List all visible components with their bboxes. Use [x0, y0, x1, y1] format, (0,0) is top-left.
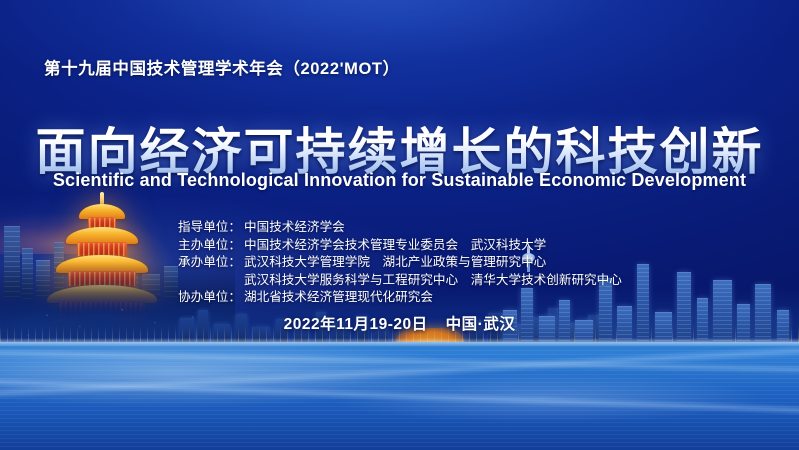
organizer-row: 指导单位：中国技术经济学会 — [178, 219, 622, 237]
banner-subtitle-english: Scientific and Technological Innovation … — [0, 170, 799, 191]
organizer-value: 武汉科技大学服务科学与工程研究中心 清华大学技术创新研究中心 — [178, 272, 622, 290]
date-location-line: 2022年11月19-20日中国·武汉 — [0, 312, 799, 334]
event-location: 中国·武汉 — [446, 316, 516, 333]
organizer-value: 中国技术经济学会技术管理专业委员会 武汉科技大学 — [244, 238, 546, 252]
organizer-row: 承办单位：武汉科技大学管理学院 湖北产业政策与管理研究中心 — [178, 254, 622, 272]
organizer-value: 武汉科技大学管理学院 湖北产业政策与管理研究中心 — [244, 255, 546, 269]
organizer-label: 协办单位： — [178, 289, 244, 307]
event-date: 2022年11月19-20日 — [284, 316, 428, 333]
organizer-label: 承办单位： — [178, 254, 244, 272]
organizer-row: 主办单位：中国技术经济学会技术管理专业委员会 武汉科技大学 — [178, 237, 622, 255]
conference-banner: 第十九届中国技术管理学术年会（2022'MOT） 面向经济可持续增长的科技创新 … — [0, 0, 799, 450]
organizer-row: 协办单位：湖北省技术经济管理现代化研究会 — [178, 289, 622, 307]
organizer-value: 中国技术经济学会 — [244, 220, 345, 234]
organizer-label: 指导单位： — [178, 219, 244, 237]
organizer-label: 主办单位： — [178, 237, 244, 255]
organizer-row: 武汉科技大学服务科学与工程研究中心 清华大学技术创新研究中心 — [178, 272, 622, 290]
banner-text-layer: 第十九届中国技术管理学术年会（2022'MOT） 面向经济可持续增长的科技创新 … — [0, 0, 799, 450]
conference-edition-line: 第十九届中国技术管理学术年会（2022'MOT） — [44, 55, 400, 79]
organizer-value: 湖北省技术经济管理现代化研究会 — [244, 290, 433, 304]
organizer-list: 指导单位：中国技术经济学会 主办单位：中国技术经济学会技术管理专业委员会 武汉科… — [178, 219, 622, 307]
